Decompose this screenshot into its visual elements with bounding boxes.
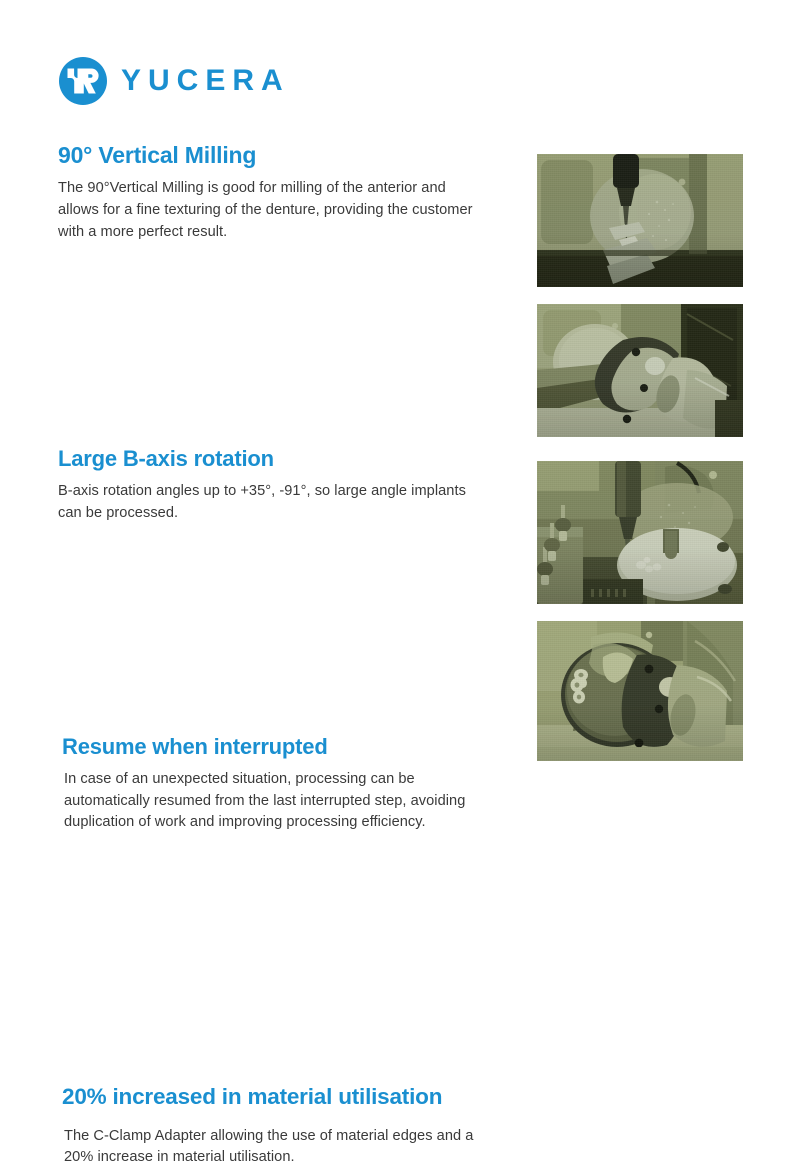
feature-title: 90° Vertical Milling	[58, 142, 488, 168]
spindle-over-disc-blank-with-tool-rack-photo	[537, 461, 743, 604]
product-feature-page: YUCERA 90° Vertical Milling The 90°Verti…	[0, 0, 800, 800]
feature-body: B-axis rotation angles up to +35°, -91°,…	[58, 481, 488, 524]
feature-photo	[537, 621, 743, 761]
yucera-yr-monogram-icon	[57, 55, 109, 107]
b-axis-rotary-bracket-photo	[537, 304, 743, 437]
feature-text-block: 90° Vertical Milling The 90°Vertical Mil…	[58, 142, 488, 243]
feature-body: In case of an unexpected situation, proc…	[62, 769, 492, 834]
feature-title: Resume when interrupted	[62, 734, 492, 759]
feature-photo	[537, 154, 743, 287]
feature-title: Large B-axis rotation	[58, 446, 488, 471]
feature-text-block: 20% increased in material utilisation Th…	[62, 1084, 502, 1169]
brand-wordmark: YUCERA	[121, 66, 290, 96]
feature-text-block: Resume when interrupted In case of an un…	[62, 734, 492, 834]
feature-body: The 90°Vertical Milling is good for mill…	[58, 178, 488, 243]
brand-logo: YUCERA	[57, 55, 290, 107]
feature-photo	[537, 461, 743, 604]
c-clamp-adapter-holding-disc-photo	[537, 621, 743, 761]
feature-photo	[537, 304, 743, 437]
feature-title: 20% increased in material utilisation	[62, 1084, 502, 1110]
feature-body: The C-Clamp Adapter allowing the use of …	[62, 1120, 502, 1169]
milling-spindle-cutting-denture-blank-photo	[537, 154, 743, 287]
feature-text-block: Large B-axis rotation B-axis rotation an…	[58, 446, 488, 524]
